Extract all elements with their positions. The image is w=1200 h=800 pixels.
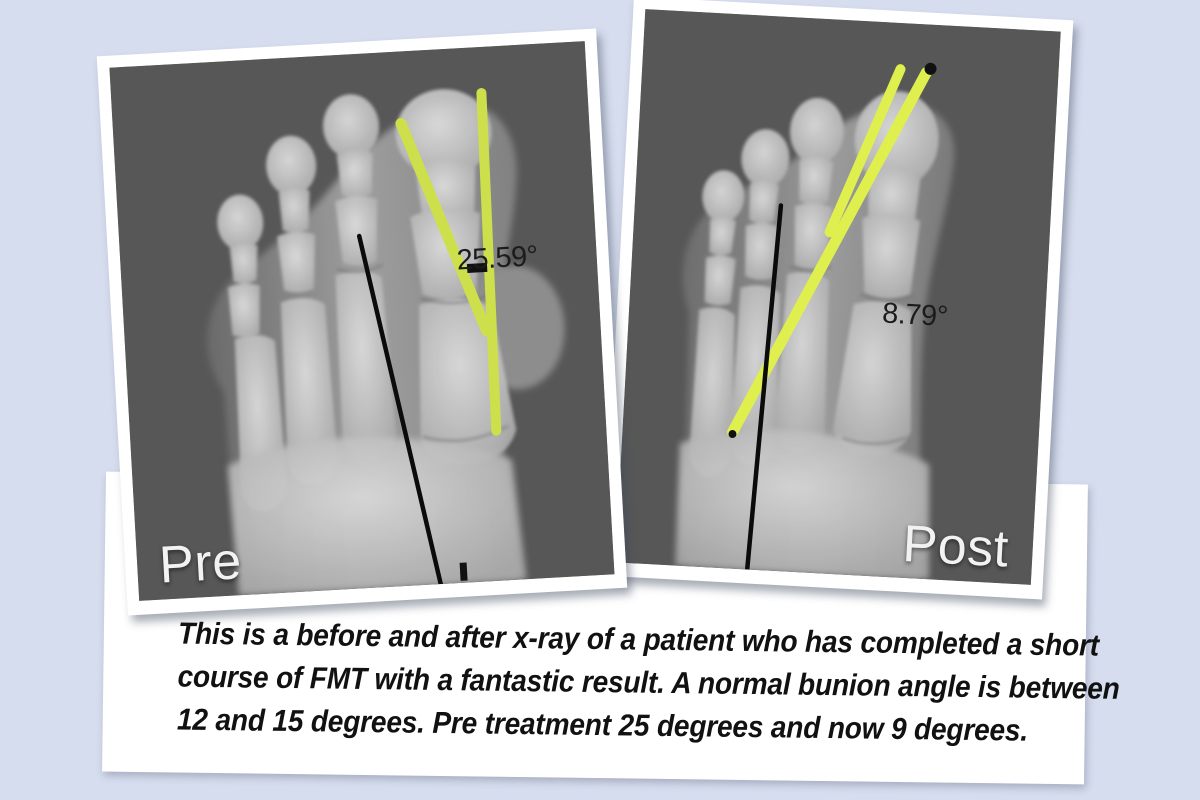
- photo-label-post: Post: [901, 518, 1010, 576]
- xray-plate-pre: 25.59° Pre: [109, 41, 614, 601]
- xray-photo-post[interactable]: 8.79° Post: [603, 0, 1074, 599]
- poster-canvas: This is a before and after x-ray of a pa…: [0, 0, 1200, 800]
- caption-text: This is a before and after x-ray of a pa…: [142, 612, 1047, 753]
- angle-label-post: 8.79°: [881, 297, 948, 333]
- xray-plate-post: 8.79° Post: [615, 9, 1060, 585]
- xray-image-post: [615, 9, 1060, 585]
- angle-label-pre: 25.59°: [456, 240, 539, 277]
- xray-image-pre: [109, 41, 614, 601]
- photo-label-pre: Pre: [158, 535, 243, 592]
- xray-photo-pre[interactable]: 25.59° Pre: [97, 28, 627, 615]
